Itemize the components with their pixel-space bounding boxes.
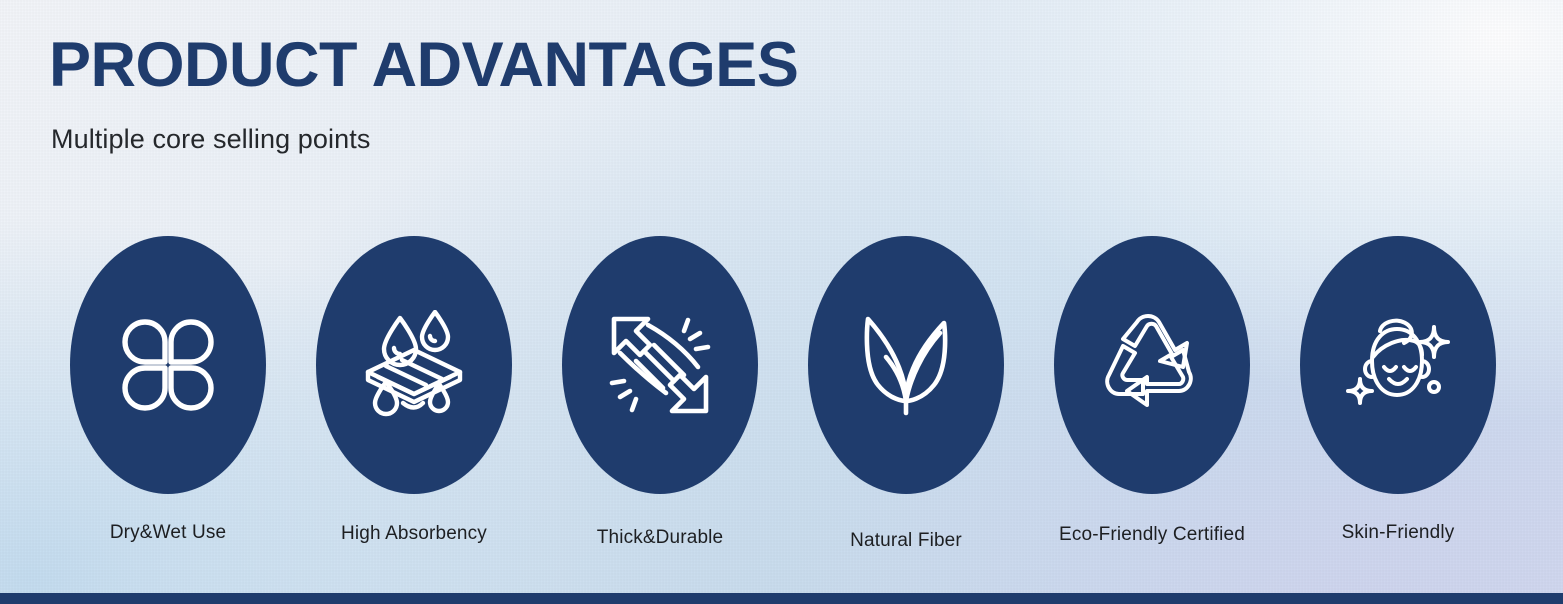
icon-badge	[1300, 236, 1496, 494]
recycle-icon	[1097, 310, 1207, 420]
bottom-accent-bar	[0, 593, 1563, 604]
advantages-list: Dry&Wet Use	[0, 236, 1563, 566]
leaf-sprout-icon	[856, 311, 956, 419]
icon-badge	[70, 236, 266, 494]
stretch-arrows-fabric-icon	[604, 309, 716, 421]
advantage-item-skin-friendly[interactable]: Skin-Friendly	[1300, 236, 1496, 494]
icon-badge	[316, 236, 512, 494]
water-drops-layers-icon	[356, 310, 472, 420]
advantage-item-dry-wet-use[interactable]: Dry&Wet Use	[70, 236, 266, 494]
product-advantages-banner: PRODUCT ADVANTAGES Multiple core selling…	[0, 0, 1563, 604]
icon-badge	[1054, 236, 1250, 494]
page-title: PRODUCT ADVANTAGES	[49, 30, 798, 101]
advantage-label: Thick&Durable	[526, 527, 794, 549]
icon-badge	[808, 236, 1004, 494]
icon-badge	[562, 236, 758, 494]
advantage-item-thick-durable[interactable]: Thick&Durable	[562, 236, 758, 494]
page-subtitle: Multiple core selling points	[51, 124, 370, 155]
advantage-label: High Absorbency	[280, 523, 548, 545]
four-petal-clover-icon	[116, 313, 220, 417]
advantage-item-high-absorbency[interactable]: High Absorbency	[316, 236, 512, 494]
advantage-label: Dry&Wet Use	[34, 522, 302, 544]
advantage-item-natural-fiber[interactable]: Natural Fiber	[808, 236, 1004, 494]
advantage-item-eco-friendly-certified[interactable]: Eco-Friendly Certified	[1054, 236, 1250, 494]
advantage-label: Skin-Friendly	[1264, 522, 1532, 544]
advantage-label: Natural Fiber	[772, 530, 1040, 552]
smiling-face-sparkles-icon	[1342, 309, 1454, 421]
advantage-label: Eco-Friendly Certified	[1018, 524, 1286, 546]
